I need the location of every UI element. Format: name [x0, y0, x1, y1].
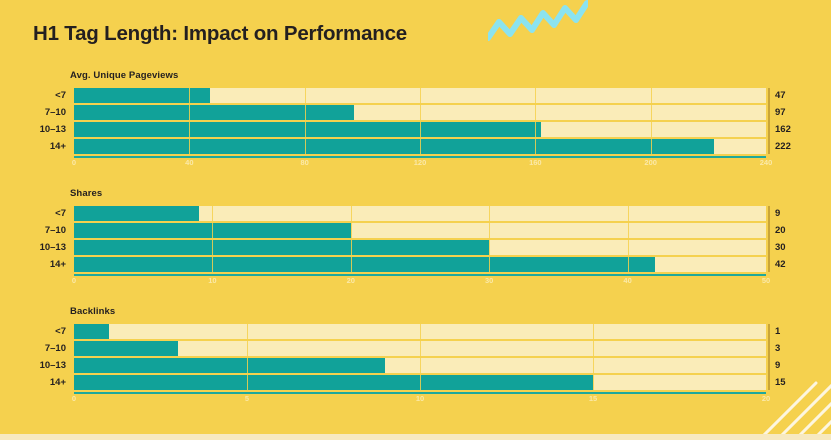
value-label: 9 — [775, 359, 780, 372]
category-label: 10–13 — [0, 359, 66, 372]
plot-area: <797–102010–133014+4201020304050 — [0, 204, 831, 280]
value-label: 162 — [775, 123, 791, 136]
value-label: 9 — [775, 207, 780, 220]
value-label: 3 — [775, 342, 780, 355]
x-axis-tick-label: 5 — [245, 394, 249, 403]
bar — [74, 122, 541, 137]
bar — [74, 139, 714, 154]
x-axis: 01020304050 — [74, 274, 766, 288]
value-label: 42 — [775, 258, 786, 271]
category-label: <7 — [0, 325, 66, 338]
value-label: 20 — [775, 224, 786, 237]
bar-row: 14+222 — [0, 139, 831, 154]
zigzag-squiggle — [488, 0, 588, 42]
x-axis: 05101520 — [74, 392, 766, 406]
chart-title: Avg. Unique Pageviews — [70, 70, 178, 81]
value-axis-rule — [768, 88, 770, 154]
x-axis-tick-label: 240 — [760, 158, 773, 167]
bar-row: 14+15 — [0, 375, 831, 390]
x-axis-tick-label: 200 — [644, 158, 657, 167]
bar-row: 7–1097 — [0, 105, 831, 120]
category-label: 7–10 — [0, 342, 66, 355]
x-axis: 04080120160200240 — [74, 156, 766, 170]
x-axis-tick-label: 10 — [208, 276, 216, 285]
gridline — [305, 88, 306, 154]
bar-row: <79 — [0, 206, 831, 221]
category-label: <7 — [0, 89, 66, 102]
bar-row: 7–103 — [0, 341, 831, 356]
category-label: 10–13 — [0, 123, 66, 136]
value-label: 97 — [775, 106, 786, 119]
bar-row: 10–139 — [0, 358, 831, 373]
bar-row: 7–1020 — [0, 223, 831, 238]
x-axis-tick-label: 80 — [300, 158, 308, 167]
bar — [74, 105, 354, 120]
bar — [74, 375, 593, 390]
x-axis-tick-label: 160 — [529, 158, 542, 167]
category-label: 14+ — [0, 258, 66, 271]
gridline — [351, 206, 352, 272]
bar-track — [74, 223, 766, 238]
x-axis-tick-label: 10 — [416, 394, 424, 403]
gridline — [489, 206, 490, 272]
gridline — [593, 324, 594, 390]
bar — [74, 240, 489, 255]
bar-track — [74, 206, 766, 221]
category-label: 7–10 — [0, 106, 66, 119]
category-label: 14+ — [0, 140, 66, 153]
gridline — [247, 324, 248, 390]
value-axis-rule — [768, 206, 770, 272]
x-axis-line — [74, 274, 766, 276]
value-label: 222 — [775, 140, 791, 153]
plot-area: <717–10310–13914+1505101520 — [0, 322, 831, 398]
value-label: 47 — [775, 89, 786, 102]
category-label: 10–13 — [0, 241, 66, 254]
bar — [74, 341, 178, 356]
bar-row: 14+42 — [0, 257, 831, 272]
value-label: 30 — [775, 241, 786, 254]
x-axis-tick-label: 120 — [414, 158, 427, 167]
category-label: 7–10 — [0, 224, 66, 237]
chart-title: Shares — [70, 188, 102, 199]
bar — [74, 324, 109, 339]
bar — [74, 358, 385, 373]
value-label: 15 — [775, 376, 786, 389]
bar — [74, 206, 199, 221]
gridline — [651, 88, 652, 154]
x-axis-tick-label: 0 — [72, 276, 76, 285]
gridline — [628, 206, 629, 272]
x-axis-tick-label: 15 — [589, 394, 597, 403]
gridline — [212, 206, 213, 272]
x-axis-tick-label: 20 — [347, 276, 355, 285]
x-axis-tick-label: 40 — [185, 158, 193, 167]
bottom-edge-bar — [0, 434, 831, 440]
gridline — [766, 324, 767, 390]
gridline — [189, 88, 190, 154]
x-axis-tick-label: 0 — [72, 394, 76, 403]
bar-track — [74, 240, 766, 255]
x-axis-tick-label: 30 — [485, 276, 493, 285]
bar — [74, 257, 655, 272]
gridline — [535, 88, 536, 154]
gridline — [766, 88, 767, 154]
chart-title: Backlinks — [70, 306, 115, 317]
gridline — [766, 206, 767, 272]
value-label: 1 — [775, 325, 780, 338]
gridline — [420, 88, 421, 154]
bar-row: <71 — [0, 324, 831, 339]
bar-row: <747 — [0, 88, 831, 103]
plot-area: <7477–109710–1316214+2220408012016020024… — [0, 86, 831, 162]
category-label: 14+ — [0, 376, 66, 389]
x-axis-tick-label: 50 — [762, 276, 770, 285]
bar-track — [74, 257, 766, 272]
bar-row: 10–13162 — [0, 122, 831, 137]
x-axis-tick-label: 40 — [623, 276, 631, 285]
bar-row: 10–1330 — [0, 240, 831, 255]
x-axis-tick-label: 20 — [762, 394, 770, 403]
x-axis-tick-label: 0 — [72, 158, 76, 167]
category-label: <7 — [0, 207, 66, 220]
value-axis-rule — [768, 324, 770, 390]
page-title: H1 Tag Length: Impact on Performance — [33, 22, 407, 46]
gridline — [420, 324, 421, 390]
